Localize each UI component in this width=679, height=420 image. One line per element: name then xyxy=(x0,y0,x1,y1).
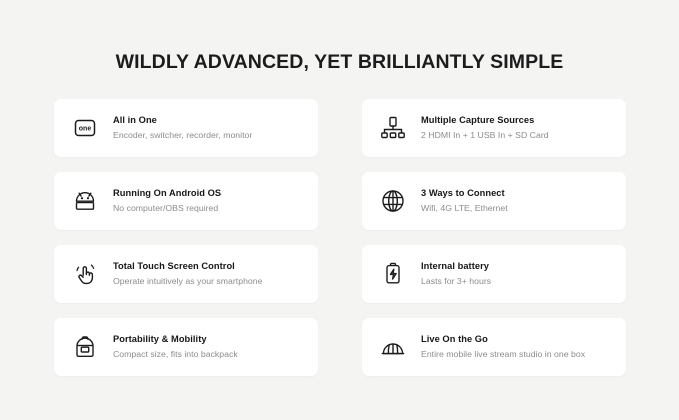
feature-card-multiple-capture-sources[interactable]: Multiple Capture Sources 2 HDMI In + 1 U… xyxy=(362,99,626,157)
feature-card-touch-screen-control[interactable]: Total Touch Screen Control Operate intui… xyxy=(54,245,318,303)
feature-card-text: Internal battery Lasts for 3+ hours xyxy=(421,260,491,288)
feature-title: 3 Ways to Connect xyxy=(421,187,508,200)
feature-card-android-os[interactable]: Running On Android OS No computer/OBS re… xyxy=(54,172,318,230)
feature-card-grid: one All in One Encoder, switcher, record… xyxy=(54,99,626,376)
page-title: WILDLY ADVANCED, YET BRILLIANTLY SIMPLE xyxy=(0,50,679,74)
feature-card-ways-to-connect[interactable]: 3 Ways to Connect Wifi, 4G LTE, Ethernet xyxy=(362,172,626,230)
feature-card-internal-battery[interactable]: Internal battery Lasts for 3+ hours xyxy=(362,245,626,303)
battery-bolt-icon xyxy=(376,257,410,291)
feature-card-text: All in One Encoder, switcher, recorder, … xyxy=(113,114,252,142)
feature-title: Portability & Mobility xyxy=(113,333,238,346)
feature-title: Multiple Capture Sources xyxy=(421,114,549,127)
one-box-icon-label: one xyxy=(79,126,92,133)
feature-card-text: Portability & Mobility Compact size, fit… xyxy=(113,333,238,361)
feature-title: Total Touch Screen Control xyxy=(113,260,263,273)
capture-sources-sitemap-icon xyxy=(376,111,410,145)
feature-subtitle: Compact size, fits into backpack xyxy=(113,348,238,361)
feature-card-text: Multiple Capture Sources 2 HDMI In + 1 U… xyxy=(421,114,549,142)
feature-title: All in One xyxy=(113,114,252,127)
feature-subtitle: 2 HDMI In + 1 USB In + SD Card xyxy=(421,129,549,142)
globe-icon xyxy=(376,184,410,218)
feature-subtitle: Operate intuitively as your smartphone xyxy=(113,275,263,288)
feature-subtitle: Entire mobile live stream studio in one … xyxy=(421,348,585,361)
feature-title: Live On the Go xyxy=(421,333,585,346)
feature-grid-page: WILDLY ADVANCED, YET BRILLIANTLY SIMPLE … xyxy=(0,0,679,420)
feature-card-text: Running On Android OS No computer/OBS re… xyxy=(113,187,221,215)
one-box-icon: one xyxy=(68,111,102,145)
feature-card-text: Total Touch Screen Control Operate intui… xyxy=(113,260,263,288)
feature-subtitle: Encoder, switcher, recorder, monitor xyxy=(113,129,252,142)
touch-tap-hand-icon xyxy=(68,257,102,291)
feature-subtitle: No computer/OBS required xyxy=(113,202,221,215)
feature-card-text: Live On the Go Entire mobile live stream… xyxy=(421,333,585,361)
feature-title: Internal battery xyxy=(421,260,491,273)
backpack-icon xyxy=(68,330,102,364)
feature-subtitle: Wifi, 4G LTE, Ethernet xyxy=(421,202,508,215)
tent-icon xyxy=(376,330,410,364)
feature-subtitle: Lasts for 3+ hours xyxy=(421,275,491,288)
feature-card-text: 3 Ways to Connect Wifi, 4G LTE, Ethernet xyxy=(421,187,508,215)
feature-card-portability-mobility[interactable]: Portability & Mobility Compact size, fit… xyxy=(54,318,318,376)
feature-card-live-on-the-go[interactable]: Live On the Go Entire mobile live stream… xyxy=(362,318,626,376)
feature-title: Running On Android OS xyxy=(113,187,221,200)
feature-card-all-in-one[interactable]: one All in One Encoder, switcher, record… xyxy=(54,99,318,157)
android-robot-icon xyxy=(68,184,102,218)
